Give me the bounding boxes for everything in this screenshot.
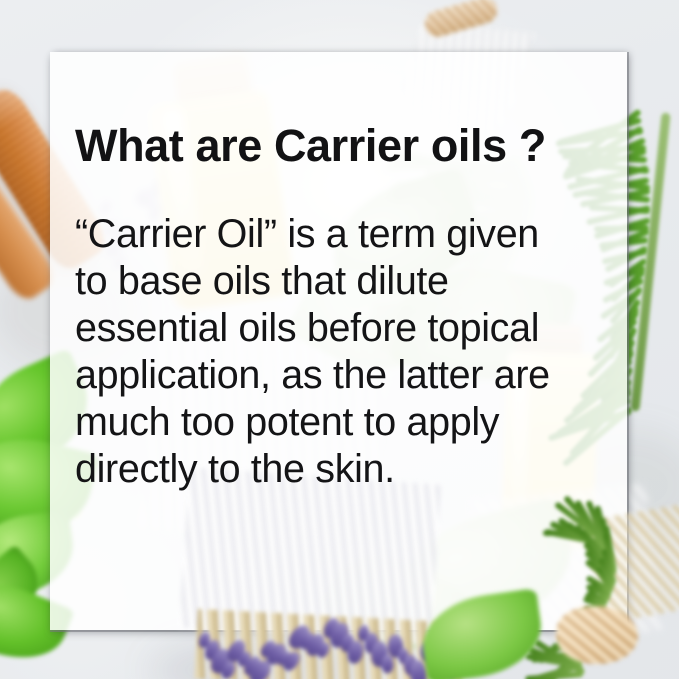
body-line: “Carrier Oil” is a term given — [75, 211, 609, 258]
card-text-block: What are Carrier oils ? “Carrier Oil” is… — [75, 52, 615, 493]
page-title: What are Carrier oils ? — [75, 52, 615, 168]
body-line: to base oils that dilute — [75, 258, 609, 305]
body-line: essential oils before topical — [75, 305, 609, 352]
infographic-canvas: What are Carrier oils ? “Carrier Oil” is… — [0, 0, 679, 679]
thyme-twine-knot — [556, 606, 638, 664]
body-line: directly to the skin. — [75, 446, 609, 493]
body-paragraph: “Carrier Oil” is a term given to base oi… — [75, 168, 609, 493]
body-line: application, as the latter are — [75, 352, 609, 399]
body-line: much too potent to apply — [75, 399, 609, 446]
